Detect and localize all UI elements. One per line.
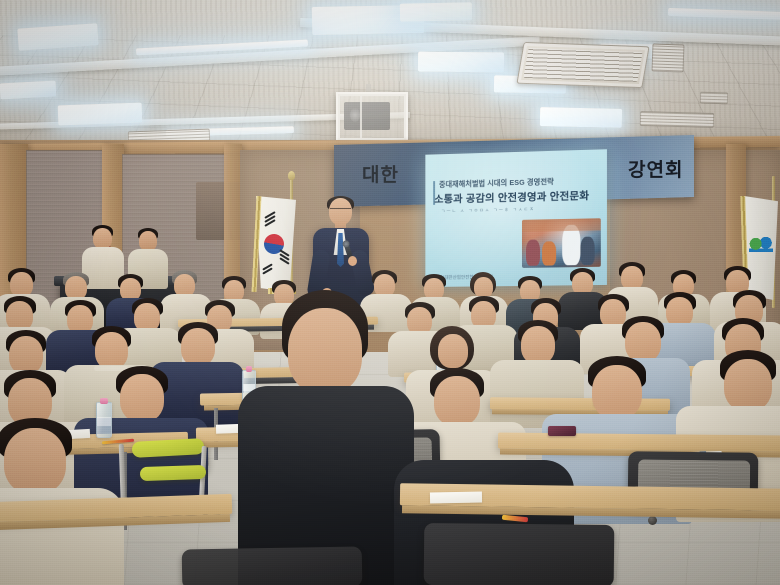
led-panel-light	[418, 52, 504, 73]
chair-caster	[648, 516, 657, 525]
projector-security-cage	[336, 92, 408, 142]
korean-national-flag	[256, 196, 296, 292]
ceiling	[0, 0, 780, 152]
projection-screen: 중대재해처벌법 시대의 ESG 경영전략 소통과 공감의 안전경영과 안전문화 …	[425, 149, 607, 287]
mesh-office-chair-back	[182, 546, 363, 585]
chair-seat	[140, 465, 206, 481]
ceiling-air-vent	[652, 43, 685, 72]
smartphone	[548, 426, 576, 436]
organization-logo	[749, 236, 773, 262]
presenter-right-hand	[348, 256, 357, 266]
flag-finial	[288, 171, 295, 180]
printed-handout	[430, 492, 482, 504]
audience-member-foreground	[256, 290, 392, 585]
ceiling-air-vent	[700, 92, 728, 105]
banner-left-text: 대한	[362, 160, 399, 187]
ceiling-air-vent	[516, 42, 649, 88]
slide-photo	[522, 218, 601, 268]
led-panel-light	[58, 103, 143, 126]
led-panel-light	[0, 81, 56, 100]
presenter-glasses	[330, 208, 351, 214]
mesh-office-chair-back	[424, 523, 615, 585]
banner-right-text: 강연회	[628, 155, 756, 182]
led-panel-light	[400, 2, 472, 21]
ceiling-air-vent	[640, 111, 714, 128]
lecture-hall-photo: EXIT 대한 강연회 중대재해처벌법 시대의 ESG 경영전략 소통과 공감의…	[0, 0, 780, 585]
led-panel-light	[540, 107, 622, 128]
